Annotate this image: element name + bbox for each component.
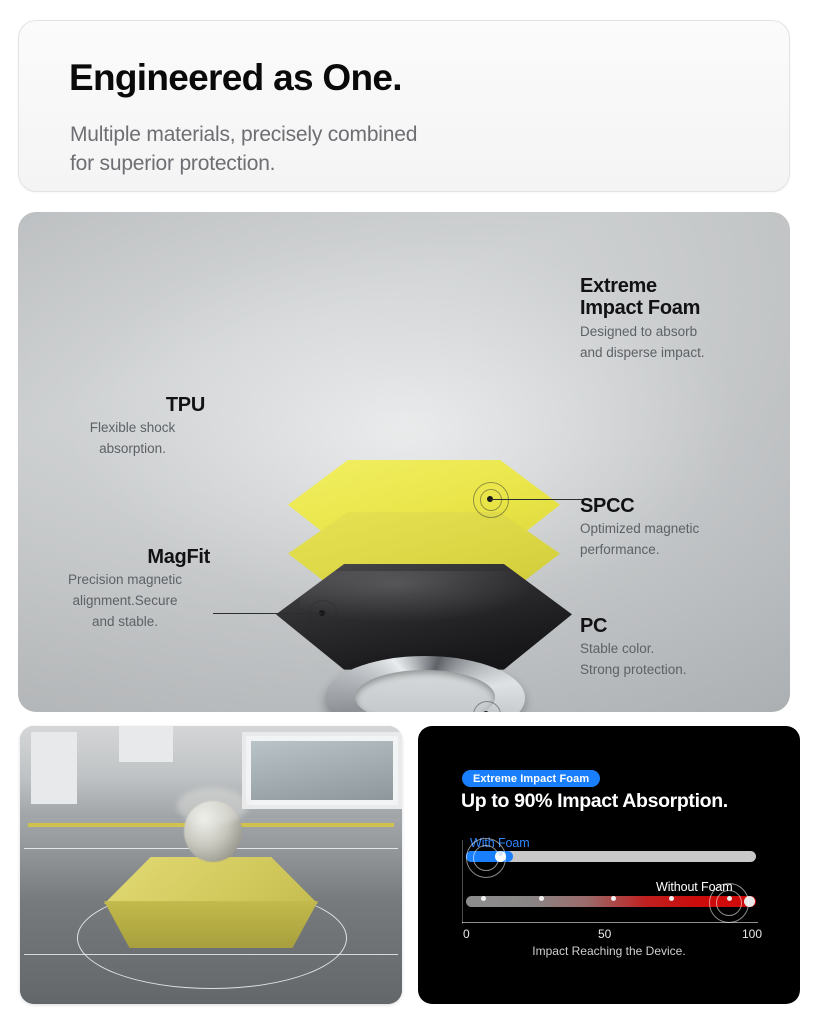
callout-title-foam-line1: Extreme xyxy=(580,275,705,297)
photo-cabinet-left xyxy=(31,732,77,804)
chart-axis-label-50: 50 xyxy=(598,927,611,941)
callout-desc-foam-line2: and disperse impact. xyxy=(580,344,705,362)
spcc-ring-hole xyxy=(355,670,495,712)
chart-axis-label-0: 0 xyxy=(463,927,470,941)
callout-desc-magfit-line1: Precision magnetic xyxy=(40,571,210,589)
chart-pip-wf-1 xyxy=(481,896,486,901)
leader-line-tpu xyxy=(213,613,322,614)
chart-pip-wf-4 xyxy=(669,896,674,901)
callout-pc: PC Stable color. Strong protection. xyxy=(580,615,687,679)
page-subtitle: Multiple materials, precisely combined f… xyxy=(70,121,417,179)
callout-desc-spcc-line2: performance. xyxy=(580,541,699,559)
callout-title-tpu: TPU xyxy=(60,394,205,416)
chart-pip-wf-2 xyxy=(539,896,544,901)
callout-desc-tpu-line2: absorption. xyxy=(60,440,205,458)
callout-spcc: SPCC Optimized magnetic performance. xyxy=(580,495,699,559)
chart-pip-wf-3 xyxy=(611,896,616,901)
callout-desc-foam-line1: Designed to absorb xyxy=(580,323,705,341)
callout-title-pc: PC xyxy=(580,615,687,637)
callout-dot-spcc xyxy=(483,711,489,712)
page-title: Engineered as One. xyxy=(69,59,402,96)
callout-title-foam-line2: Impact Foam xyxy=(580,297,705,319)
chart-axis-caption: Impact Reaching the Device. xyxy=(418,944,800,958)
chart-target-ring-without-foam-inner xyxy=(716,890,742,916)
callout-title-spcc: SPCC xyxy=(580,495,699,517)
chart-target-ring-with-foam-inner xyxy=(473,845,499,871)
callout-desc-spcc-line1: Optimized magnetic xyxy=(580,520,699,538)
photo-foam-block-side xyxy=(104,901,318,948)
callout-desc-magfit-line3: and stable. xyxy=(40,613,210,631)
callout-tpu: TPU Flexible shock absorption. xyxy=(60,394,205,458)
photo-impact-ball xyxy=(184,801,241,862)
impact-test-photo xyxy=(20,726,402,1004)
chart-axis-line xyxy=(462,922,758,923)
chart-axis-label-100: 100 xyxy=(742,927,762,941)
chart-headline: Up to 90% Impact Absorption. xyxy=(461,790,728,813)
chart-axis-tick-left xyxy=(462,840,463,924)
leader-line-foam xyxy=(490,499,586,500)
callout-magfit: MagFit Precision magnetic alignment.Secu… xyxy=(40,546,210,631)
photo-cabinet-mid xyxy=(119,726,172,762)
callout-desc-tpu-line1: Flexible shock xyxy=(60,419,205,437)
callout-desc-magfit-line2: alignment.Secure xyxy=(40,592,210,610)
callout-extreme-impact-foam: Extreme Impact Foam Designed to absorb a… xyxy=(580,275,705,361)
page-subtitle-line2: for superior protection. xyxy=(70,150,417,179)
status-badge: Extreme Impact Foam xyxy=(462,770,600,787)
callout-desc-pc-line2: Strong protection. xyxy=(580,661,687,679)
photo-window xyxy=(242,732,402,810)
callout-title-magfit: MagFit xyxy=(40,546,210,568)
callout-desc-pc-line1: Stable color. xyxy=(580,640,687,658)
header-card: Engineered as One. Multiple materials, p… xyxy=(18,20,790,192)
page-subtitle-line1: Multiple materials, precisely combined xyxy=(70,121,417,150)
